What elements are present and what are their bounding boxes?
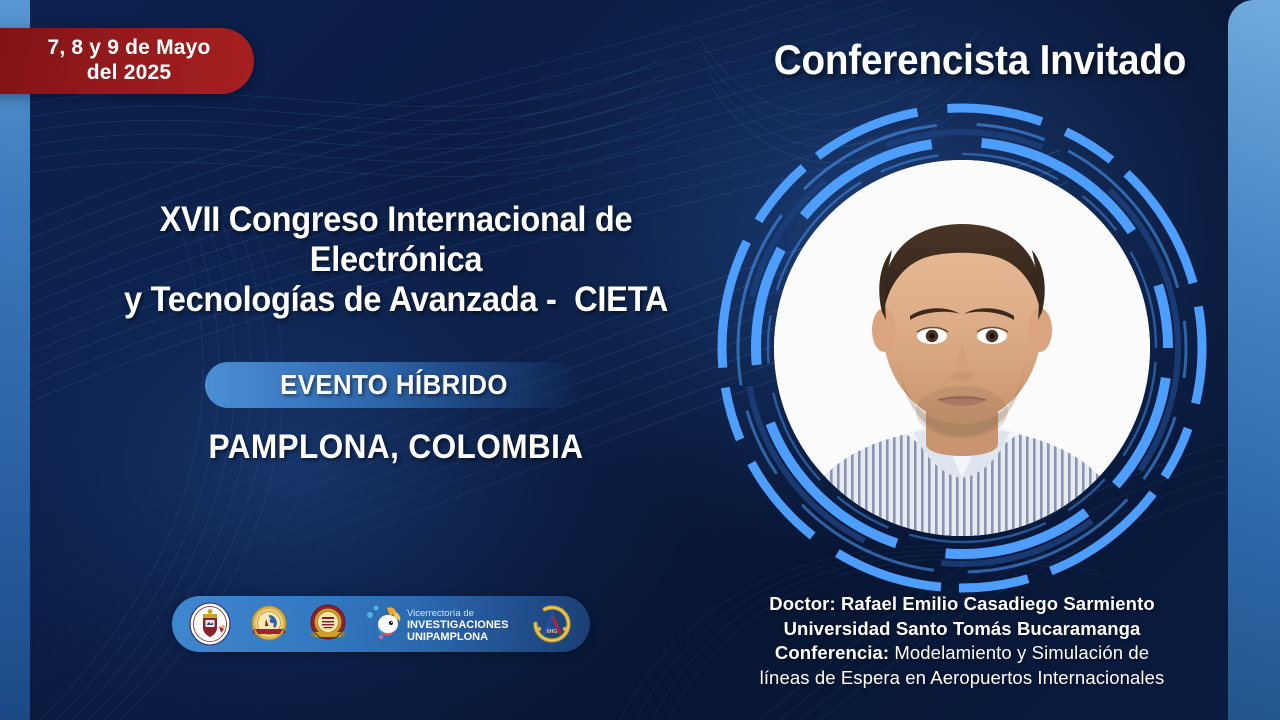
- congress-title: XVII Congreso Internacional de Electróni…: [66, 200, 726, 320]
- event-date-badge: 7, 8 y 9 de Mayo del 2025: [0, 28, 254, 94]
- talk-title-part-1: Modelamiento y Simulación de: [894, 642, 1149, 663]
- vicerrectoria-investigaciones-unipamplona-icon: Vicerrectoría de INVESTIGACIONES UNIPAMP…: [365, 602, 515, 646]
- speaker-affiliation: Universidad Santo Tomás Bucaramanga: [672, 617, 1252, 642]
- universidad-de-pamplona-shield-icon: [188, 602, 232, 646]
- congress-title-line-1: XVII Congreso Internacional de: [89, 200, 703, 240]
- speaker-portrait-frame: [712, 98, 1212, 598]
- sponsor-logos-bar: Vicerrectoría de INVESTIGACIONES UNIPAMP…: [172, 596, 590, 652]
- event-date-line-1: 7, 8 y 9 de Mayo: [47, 36, 210, 61]
- conference-poster: 7, 8 y 9 de Mayo del 2025 XVII Congreso …: [0, 0, 1280, 720]
- congress-title-line-3: y Tecnologías de Avanzada - CIETA: [89, 280, 703, 320]
- congress-title-line-2: Electrónica: [89, 240, 703, 280]
- svg-text:UNIPAMPLONA: UNIPAMPLONA: [407, 631, 488, 643]
- event-location: PAMPLONA, COLOMBIA: [89, 428, 703, 467]
- talk-label: Conferencia:: [775, 642, 889, 663]
- guest-speaker-heading: Conferencista Invitado: [722, 36, 1237, 84]
- speaker-details: Doctor: Rafael Emilio Casadiego Sarmient…: [672, 592, 1252, 690]
- gold-seal-acreditacion-icon: [306, 602, 350, 646]
- talk-title-line-1: Conferencia: Modelamiento y Simulación d…: [672, 641, 1252, 666]
- modality-label: EVENTO HÍBRIDO: [220, 362, 568, 408]
- svg-text:IIHG: IIHG: [547, 629, 557, 635]
- left-edge-accent-strip: [0, 0, 30, 720]
- svg-text:INVESTIGACIONES: INVESTIGACIONES: [407, 619, 508, 631]
- gold-seal-anniversary-icon: [247, 602, 291, 646]
- speaker-photo: [774, 160, 1150, 536]
- aiuhg-gold-ring-monogram-icon: IIHG: [530, 602, 574, 646]
- speaker-name-line: Doctor: Rafael Emilio Casadiego Sarmient…: [672, 592, 1252, 617]
- event-date-line-2: del 2025: [47, 61, 210, 86]
- talk-title-line-2: líneas de Espera en Aeropuertos Internac…: [672, 666, 1252, 691]
- svg-text:Vicerrectoría de: Vicerrectoría de: [407, 608, 474, 619]
